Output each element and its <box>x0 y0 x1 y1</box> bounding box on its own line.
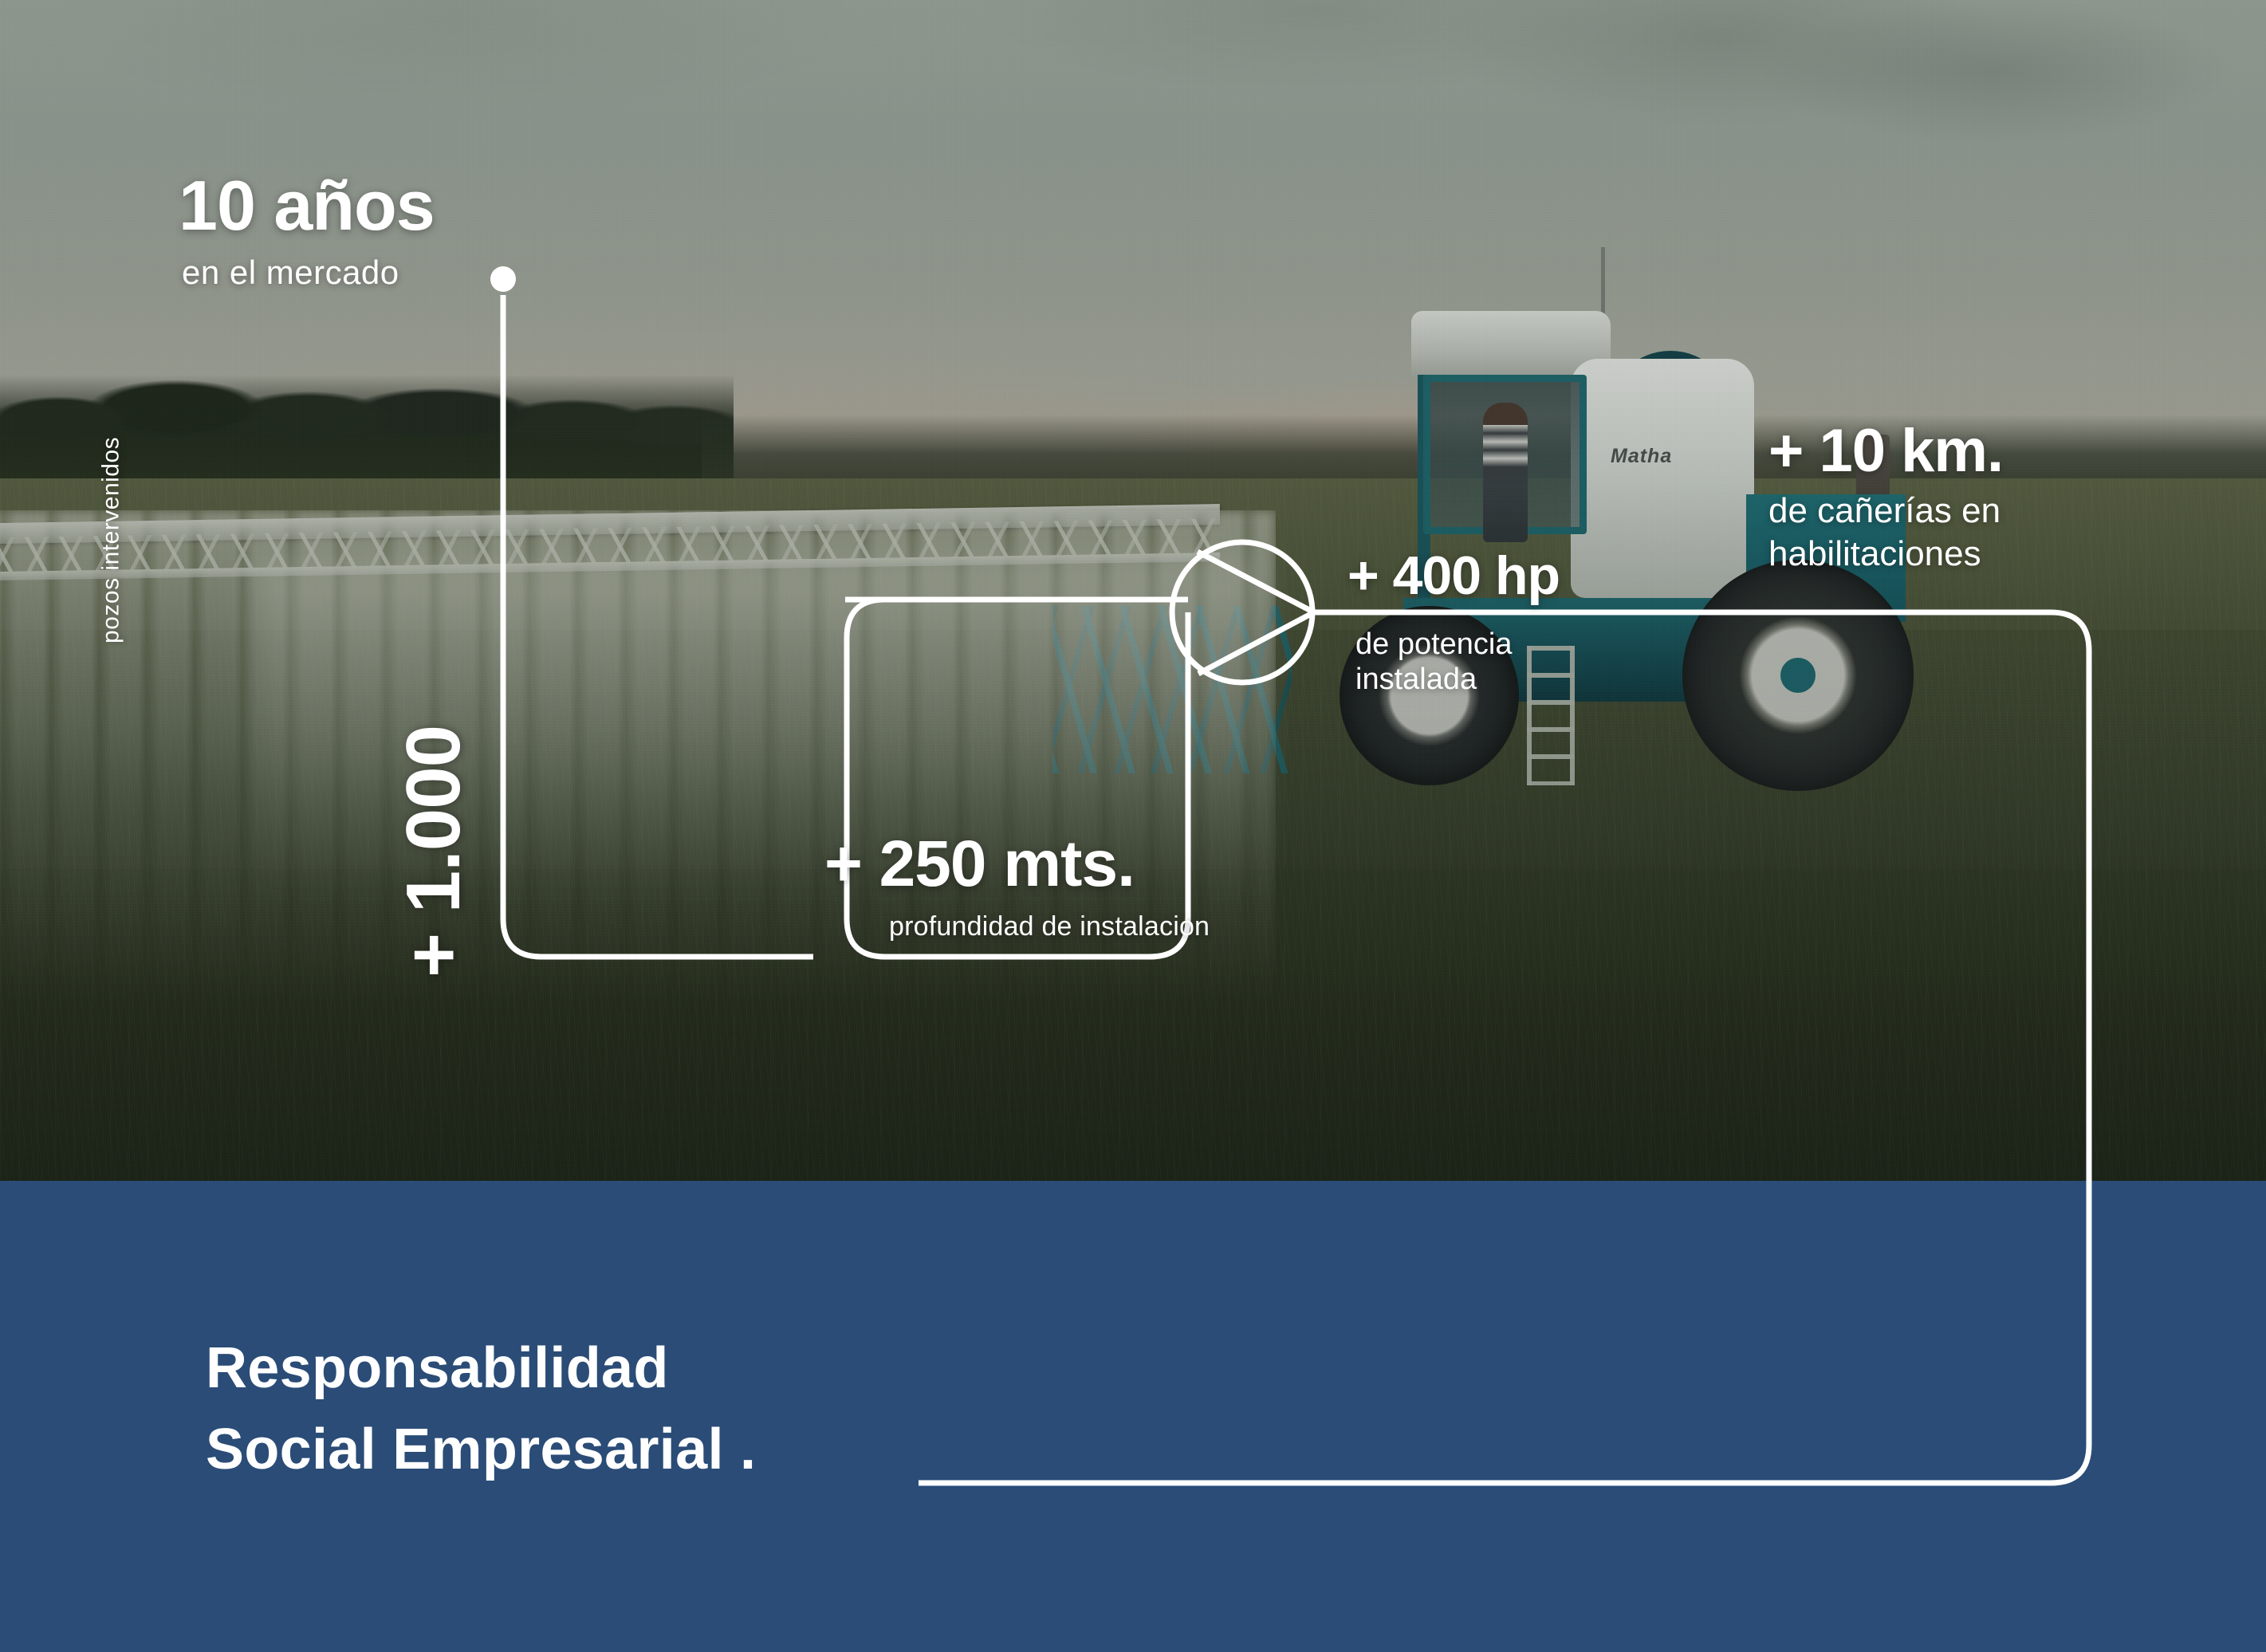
stat-potencia-label-line2: instalada <box>1355 662 1513 697</box>
stat-potencia-label: de potencia instalada <box>1355 627 1513 697</box>
infographic-canvas: Matha <box>0 0 2266 1652</box>
stat-anos-label: en el mercado <box>182 254 399 293</box>
stat-caneria-value: + 10 km. <box>1768 421 2003 482</box>
stat-pozos-label: pozos intervenidos <box>98 372 126 707</box>
access-ladder <box>1527 646 1575 785</box>
rear-wheel <box>1682 560 1914 791</box>
stat-profundidad-value: + 250 mts. <box>824 832 1135 897</box>
stat-anos-value: 10 años <box>179 171 435 241</box>
driver-figure <box>1483 403 1528 542</box>
stat-caneria-label-line1: de cañerías en <box>1768 490 2000 533</box>
spray-tank <box>1571 359 1754 598</box>
stat-potencia-label-line1: de potencia <box>1355 627 1513 662</box>
stat-potencia-value: + 400 hp <box>1347 549 1560 603</box>
stat-pozos-value: + 1.000 <box>395 676 472 1027</box>
stat-profundidad-label: profundidad de instalación <box>889 911 1210 942</box>
stat-caneria-label-line2: habilitaciones <box>1768 533 2000 576</box>
stat-caneria-label: de cañerías en habilitaciones <box>1768 490 2000 575</box>
machine-brand-label: Matha <box>1611 445 1672 468</box>
banner-title: Responsabilidad Social Empresarial . <box>206 1327 756 1490</box>
banner-title-line2: Social Empresarial . <box>206 1409 756 1490</box>
banner-title-line1: Responsabilidad <box>206 1327 756 1409</box>
